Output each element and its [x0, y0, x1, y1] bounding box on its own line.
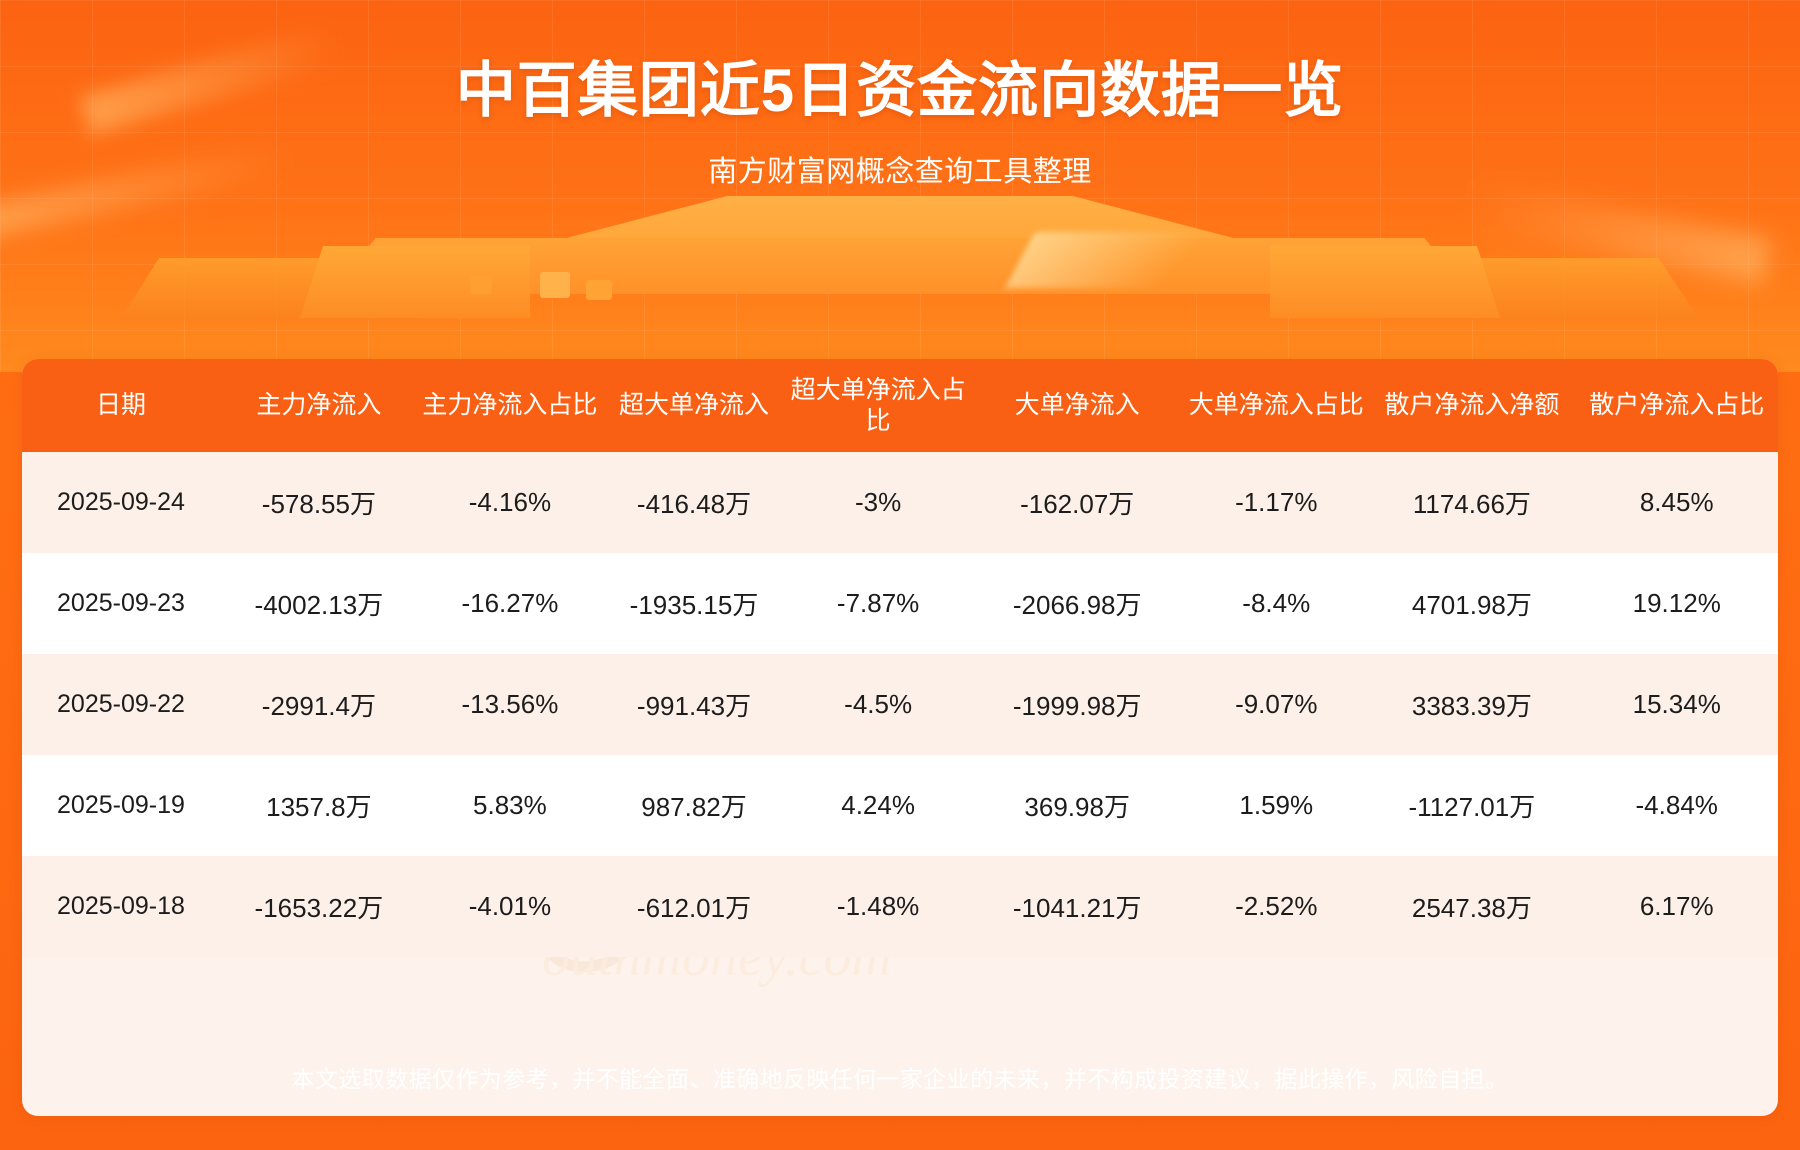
cell-retail-net: 1174.66万 [1368, 452, 1575, 553]
cell-xl-pct: -7.87% [786, 553, 970, 654]
platform-left-front [300, 246, 530, 318]
cell-lg-pct: -9.07% [1184, 654, 1368, 755]
cell-lg-pct: 1.59% [1184, 755, 1368, 856]
platform-shine [1005, 232, 1245, 288]
column-header-main-pct: 主力净流入占比 [418, 359, 602, 452]
cell-date: 2025-09-18 [22, 856, 220, 957]
column-header-date: 日期 [22, 359, 220, 452]
cell-retail-pct: 19.12% [1575, 553, 1778, 654]
cell-date: 2025-09-22 [22, 654, 220, 755]
disclaimer-text: 本文选取数据仅作为参考，并不能全面、准确地反映任何一家企业的未来，并不构成投资建… [0, 1060, 1800, 1094]
cell-main-net: 1357.8万 [220, 755, 418, 856]
column-header-main-net: 主力净流入 [220, 359, 418, 452]
cell-date: 2025-09-24 [22, 452, 220, 553]
cell-xl-net: 987.82万 [602, 755, 786, 856]
table-row: 2025-09-22 -2991.4万 -13.56% -991.43万 -4.… [22, 654, 1778, 755]
column-header-xl-net: 超大单净流入 [602, 359, 786, 452]
decor-block-a [540, 272, 570, 298]
decor-block-c [470, 276, 492, 294]
cell-date: 2025-09-23 [22, 553, 220, 654]
cell-lg-net: -162.07万 [970, 452, 1184, 553]
cell-main-pct: -13.56% [418, 654, 602, 755]
table-row: 2025-09-19 1357.8万 5.83% 987.82万 4.24% 3… [22, 755, 1778, 856]
cell-lg-net: -1041.21万 [970, 856, 1184, 957]
cell-xl-net: -1935.15万 [602, 553, 786, 654]
cell-xl-net: -991.43万 [602, 654, 786, 755]
cell-lg-net: 369.98万 [970, 755, 1184, 856]
cell-date: 2025-09-19 [22, 755, 220, 856]
cell-retail-net: 3383.39万 [1368, 654, 1575, 755]
cell-xl-net: -612.01万 [602, 856, 786, 957]
data-table-card: 南方财富网 outhmoney.com 日期 主力净流入 主力净流入占比 超大单… [22, 359, 1778, 1116]
cell-lg-pct: -2.52% [1184, 856, 1368, 957]
cell-lg-net: -2066.98万 [970, 553, 1184, 654]
cell-retail-pct: -4.84% [1575, 755, 1778, 856]
table-row: 2025-09-18 -1653.22万 -4.01% -612.01万 -1.… [22, 856, 1778, 957]
cell-retail-net: 2547.38万 [1368, 856, 1575, 957]
cell-lg-pct: -1.17% [1184, 452, 1368, 553]
cell-main-net: -1653.22万 [220, 856, 418, 957]
table-body: 2025-09-24 -578.55万 -4.16% -416.48万 -3% … [22, 452, 1778, 957]
cell-lg-pct: -8.4% [1184, 553, 1368, 654]
cell-main-net: -4002.13万 [220, 553, 418, 654]
table-row: 2025-09-24 -578.55万 -4.16% -416.48万 -3% … [22, 452, 1778, 553]
page-subtitle: 南方财富网概念查询工具整理 [0, 148, 1800, 190]
decor-block-b [586, 280, 612, 300]
cell-retail-net: -1127.01万 [1368, 755, 1575, 856]
cell-xl-pct: -1.48% [786, 856, 970, 957]
table-header: 日期 主力净流入 主力净流入占比 超大单净流入 超大单净流入占比 大单净流入 大… [22, 359, 1778, 452]
cell-xl-pct: -3% [786, 452, 970, 553]
cell-xl-pct: 4.24% [786, 755, 970, 856]
column-header-lg-net: 大单净流入 [970, 359, 1184, 452]
cell-retail-pct: 6.17% [1575, 856, 1778, 957]
column-header-lg-pct: 大单净流入占比 [1184, 359, 1368, 452]
cell-main-pct: -4.16% [418, 452, 602, 553]
page-title: 中百集团近5日资金流向数据一览 [0, 42, 1800, 129]
platform-right-front [1270, 246, 1500, 318]
column-header-retail-net: 散户净流入净额 [1368, 359, 1575, 452]
fund-flow-table: 日期 主力净流入 主力净流入占比 超大单净流入 超大单净流入占比 大单净流入 大… [22, 359, 1778, 957]
cell-main-pct: 5.83% [418, 755, 602, 856]
cell-lg-net: -1999.98万 [970, 654, 1184, 755]
table-row: 2025-09-23 -4002.13万 -16.27% -1935.15万 -… [22, 553, 1778, 654]
cell-xl-pct: -4.5% [786, 654, 970, 755]
cell-retail-pct: 15.34% [1575, 654, 1778, 755]
column-header-retail-pct: 散户净流入占比 [1575, 359, 1778, 452]
cell-retail-net: 4701.98万 [1368, 553, 1575, 654]
cell-main-net: -578.55万 [220, 452, 418, 553]
cell-xl-net: -416.48万 [602, 452, 786, 553]
table-header-row: 日期 主力净流入 主力净流入占比 超大单净流入 超大单净流入占比 大单净流入 大… [22, 359, 1778, 452]
cell-main-net: -2991.4万 [220, 654, 418, 755]
column-header-xl-pct: 超大单净流入占比 [786, 359, 970, 452]
cell-main-pct: -4.01% [418, 856, 602, 957]
cell-main-pct: -16.27% [418, 553, 602, 654]
cell-retail-pct: 8.45% [1575, 452, 1778, 553]
